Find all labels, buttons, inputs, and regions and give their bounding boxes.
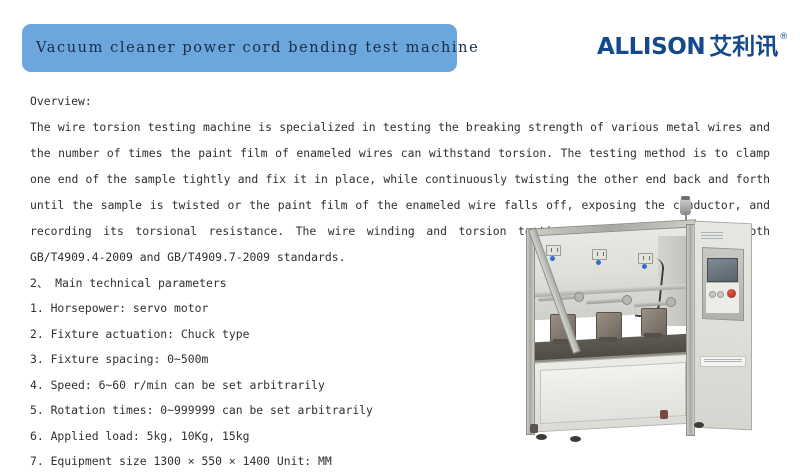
power-socket-icon xyxy=(546,245,561,256)
logo-cjk-text: 艾利讯 xyxy=(709,34,778,60)
socket-indicator-led xyxy=(550,256,555,261)
leveling-foot xyxy=(536,434,547,440)
socket-indicator-led xyxy=(596,260,601,265)
overview-label: Overview: xyxy=(30,88,772,114)
control-cabinet-label xyxy=(701,232,723,239)
title-banner: Vacuum cleaner power cord bending test m… xyxy=(22,24,457,72)
page-header: Vacuum cleaner power cord bending test m… xyxy=(0,0,800,86)
control-button[interactable] xyxy=(717,291,724,298)
swing-arm-hub xyxy=(622,295,632,305)
caster-wheel xyxy=(530,424,538,433)
brand-logo: ALLISON 艾利讯 ® xyxy=(597,34,788,60)
product-photo xyxy=(508,196,796,448)
list-item: 7. Equipment size 1300 × 550 × 1400 Unit… xyxy=(30,449,772,475)
nameplate-label xyxy=(700,356,746,367)
registered-trademark-icon: ® xyxy=(779,32,788,42)
frame-post-left xyxy=(526,228,535,435)
page-title: Vacuum cleaner power cord bending test m… xyxy=(22,40,479,56)
signal-lamp-cap xyxy=(681,196,690,200)
leveling-foot xyxy=(570,436,581,442)
emergency-stop-button[interactable] xyxy=(727,289,736,298)
test-fixture xyxy=(641,308,667,336)
leveling-foot xyxy=(694,422,704,428)
swing-arm-hub xyxy=(666,297,676,307)
control-button[interactable] xyxy=(709,291,716,298)
control-face-plate xyxy=(705,282,740,314)
caster-wheel xyxy=(660,410,668,419)
hmi-touchscreen[interactable] xyxy=(707,258,738,282)
logo-latin-text: ALLISON xyxy=(597,34,705,60)
test-fixture-base xyxy=(644,333,662,338)
power-socket-icon xyxy=(592,249,607,260)
test-fixture xyxy=(596,312,622,340)
swing-arm-hub xyxy=(574,292,584,302)
test-fixture-base xyxy=(599,337,617,342)
